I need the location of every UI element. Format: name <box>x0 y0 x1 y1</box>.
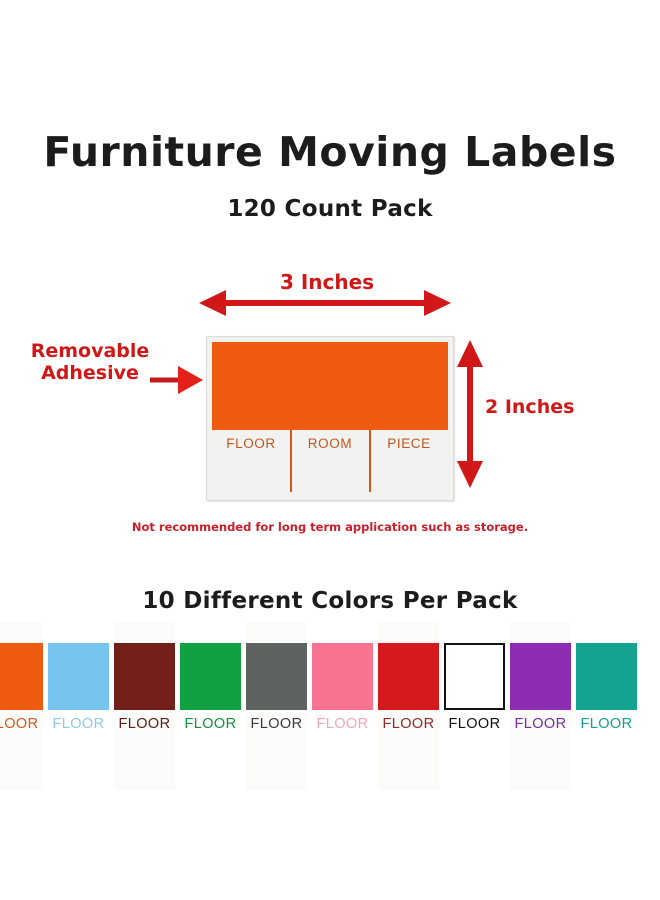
swatch-color-block-green <box>180 643 241 710</box>
height-arrow-icon <box>457 340 483 488</box>
color-swatch-card: FLOOR <box>378 622 439 790</box>
color-swatch-card: FLOOR <box>180 622 241 790</box>
swatch-color-block-purple <box>510 643 571 710</box>
color-swatch-card: FLOOR <box>114 622 175 790</box>
swatch-floor-label: FLOOR <box>114 716 175 732</box>
label-field-room: ROOM <box>291 430 369 496</box>
label-field-floor: FLOOR <box>212 430 290 496</box>
swatch-floor-label: FLOOR <box>576 716 637 732</box>
swatch-floor-label: FLOOR <box>48 716 109 732</box>
swatch-floor-label: FLOOR <box>444 716 505 732</box>
swatch-floor-label: FLOOR <box>180 716 241 732</box>
page-subtitle: 120 Count Pack <box>0 196 660 222</box>
colors-heading: 10 Different Colors Per Pack <box>0 588 660 614</box>
removable-adhesive-label: Removable Adhesive <box>20 340 160 385</box>
swatch-floor-label: FLOOR <box>510 716 571 732</box>
field-label: PIECE <box>370 436 448 451</box>
color-swatch-card: FLOOR <box>0 622 43 790</box>
swatch-color-block-red <box>378 643 439 710</box>
label-field-row: FLOOR ROOM PIECE <box>212 430 448 496</box>
color-swatch-card: FLOOR <box>444 622 505 790</box>
field-label: ROOM <box>291 436 369 451</box>
swatch-color-block-teal <box>576 643 637 710</box>
swatch-floor-label: FLOOR <box>312 716 373 732</box>
swatch-color-block-light-blue <box>48 643 109 710</box>
label-color-block <box>212 342 448 430</box>
width-dimension-label: 3 Inches <box>212 270 442 294</box>
swatch-floor-label: FLOOR <box>246 716 307 732</box>
color-swatch-card: FLOOR <box>246 622 307 790</box>
swatch-color-block-brown <box>114 643 175 710</box>
adhesive-label-line1: Removable <box>31 340 150 362</box>
swatch-floor-label: FLOOR <box>378 716 439 732</box>
swatch-color-block-white <box>444 643 505 710</box>
color-swatch-card: FLOOR <box>48 622 109 790</box>
adhesive-label-line2: Adhesive <box>41 362 139 384</box>
label-field-piece: PIECE <box>370 430 448 496</box>
swatch-color-block-pink <box>312 643 373 710</box>
usage-disclaimer: Not recommended for long term applicatio… <box>0 520 660 534</box>
color-swatch-card: FLOOR <box>312 622 373 790</box>
page-title: Furniture Moving Labels <box>0 128 660 176</box>
swatch-floor-label: FLOOR <box>0 716 43 732</box>
sample-label-card: FLOOR ROOM PIECE <box>206 336 454 501</box>
swatch-color-block-orange <box>0 643 43 710</box>
color-swatch-strip: FLOORFLOORFLOORFLOORFLOORFLOORFLOORFLOOR… <box>0 622 660 797</box>
color-swatch-card: FLOOR <box>510 622 571 790</box>
color-swatch-card: FLOOR <box>576 622 637 790</box>
field-label: FLOOR <box>212 436 290 451</box>
swatch-color-block-gray <box>246 643 307 710</box>
height-dimension-label: 2 Inches <box>485 396 605 418</box>
